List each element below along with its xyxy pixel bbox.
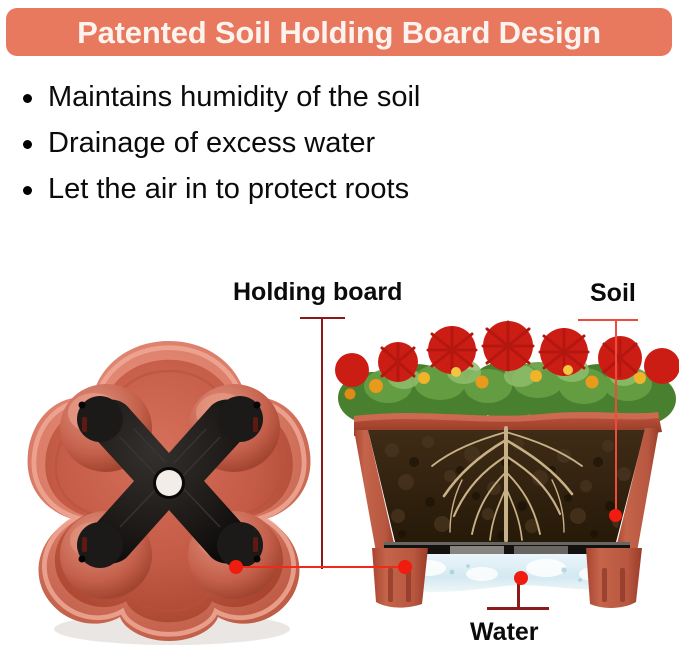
feature-item-label: Let the air in to protect roots [48, 173, 409, 205]
product-diagram: Holding board Soil Water [0, 255, 679, 652]
callout-label-holding-board: Holding board [233, 280, 402, 305]
bullet-point-icon [23, 140, 32, 149]
feature-item: Maintains humidity of the soil [18, 74, 658, 120]
holding-board-leader-line [321, 317, 323, 569]
holding-board-connector-line [236, 566, 408, 568]
quatrefoil-planter-top-view-photo [14, 333, 324, 648]
feature-item: Let the air in to protect roots [18, 166, 658, 212]
bullet-point-icon [23, 94, 32, 103]
center-drain-hole [156, 470, 182, 496]
callout-label-water: Water [470, 620, 539, 645]
feature-list: Maintains humidity of the soil Drainage … [18, 74, 658, 212]
water-callout-dot [514, 571, 528, 585]
page-title: Patented Soil Holding Board Design [77, 17, 601, 48]
callout-label-soil: Soil [590, 281, 636, 306]
bullet-point-icon [23, 186, 32, 195]
feature-item: Drainage of excess water [18, 120, 658, 166]
holding-board-dot-left [229, 560, 243, 574]
feature-item-label: Drainage of excess water [48, 127, 375, 159]
planter-cross-section-photo [332, 320, 679, 620]
header-banner: Patented Soil Holding Board Design [6, 8, 672, 56]
soil-leader-tick [578, 319, 638, 321]
soil-callout-dot [609, 509, 622, 522]
chrysanthemum-foliage-group [335, 321, 679, 425]
feature-item-label: Maintains humidity of the soil [48, 81, 420, 113]
soil-leader-line [615, 319, 617, 515]
holding-board-dot-right [398, 560, 412, 574]
